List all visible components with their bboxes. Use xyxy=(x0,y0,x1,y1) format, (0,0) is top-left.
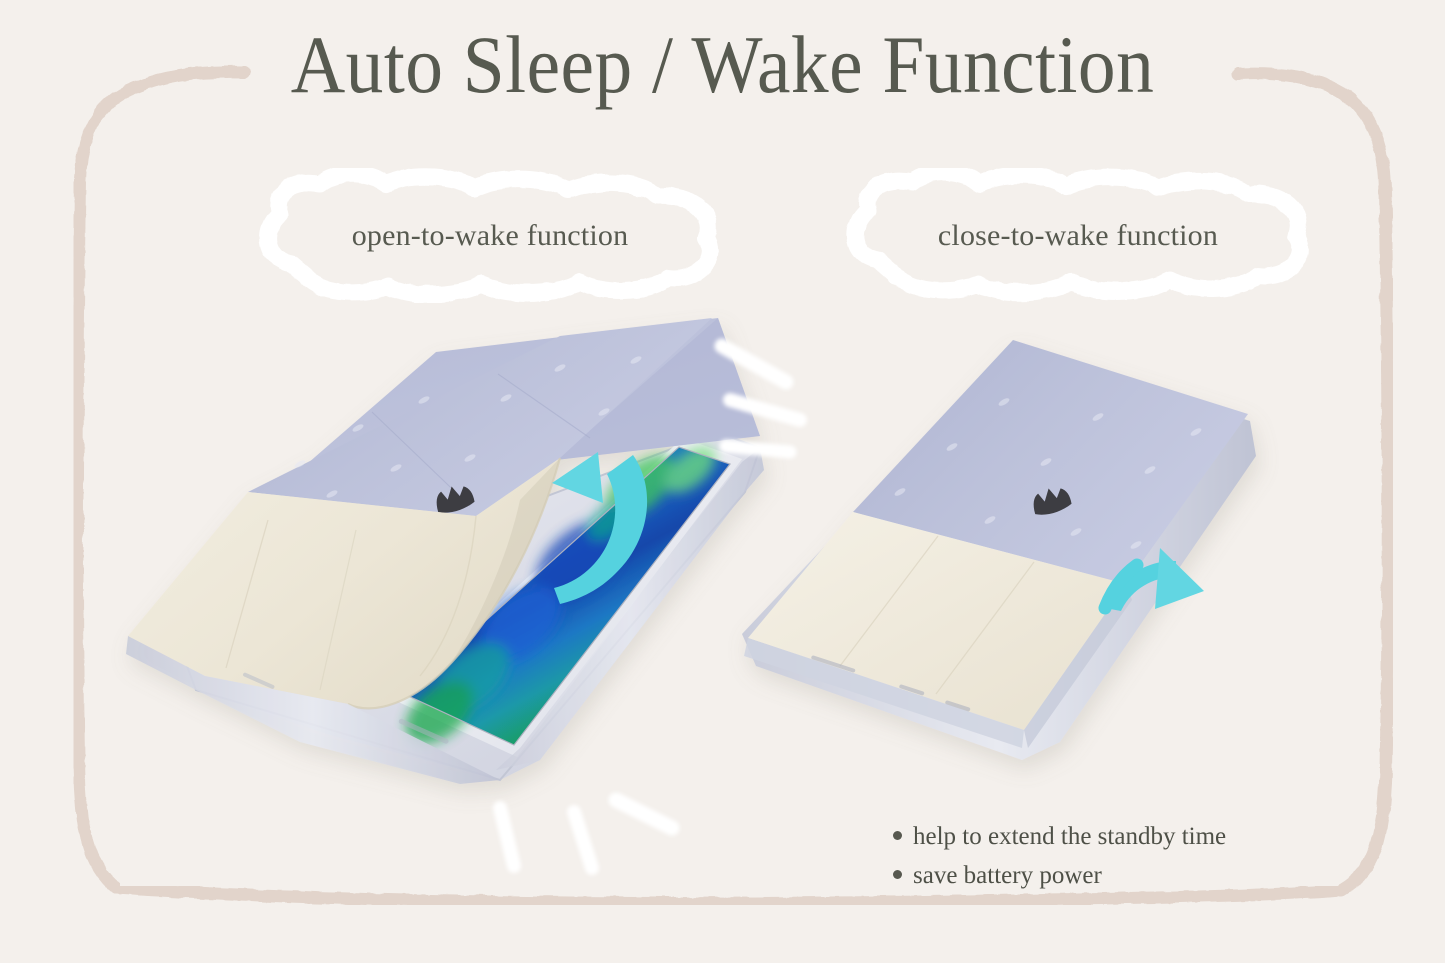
device-shell-left xyxy=(176,432,764,780)
screen-bezel-left xyxy=(392,438,742,757)
flash-stroke xyxy=(574,812,592,868)
bullet-dot-icon xyxy=(893,870,902,879)
flash-stroke xyxy=(500,808,514,866)
benefit-label: help to extend the standby time xyxy=(913,823,1226,851)
tablet-case-closed xyxy=(742,340,1256,760)
benefit-label: save battery power xyxy=(913,862,1102,890)
callout-open-label: open-to-wake function xyxy=(352,219,629,253)
case-cover-lavender-left xyxy=(248,318,712,516)
product-scene xyxy=(0,0,1445,963)
flash-strokes xyxy=(500,346,800,868)
flash-stroke xyxy=(730,400,800,420)
benefits-list: help to extend the standby time save bat… xyxy=(893,823,1313,901)
flash-stroke xyxy=(616,800,672,828)
list-item: save battery power xyxy=(893,862,1313,890)
cat-silhouette-icon-left xyxy=(432,481,475,515)
device-port-details-right xyxy=(811,655,971,712)
flash-stroke xyxy=(722,346,786,382)
bullet-dot-icon xyxy=(893,831,902,840)
case-cover-cream-left xyxy=(128,458,560,708)
device-shell-right xyxy=(742,347,1256,760)
product-feature-poster: Auto Sleep / Wake Function open-to-wake … xyxy=(0,0,1445,963)
device-port-details-left xyxy=(242,672,449,745)
cat-silhouette-icon-right xyxy=(1029,483,1072,517)
close-direction-arrow-icon xyxy=(1105,548,1204,611)
case-side-edge-right xyxy=(1024,584,1132,748)
list-item: help to extend the standby time xyxy=(893,823,1313,851)
tablet-screen-left xyxy=(394,438,730,756)
case-cover-open-leaf xyxy=(300,318,760,470)
callout-close-to-wake: close-to-wake function xyxy=(838,168,1318,303)
case-cover-cream-right xyxy=(748,512,1126,730)
open-direction-arrow-icon xyxy=(552,452,647,604)
flash-stroke xyxy=(726,446,790,452)
case-cover-lavender-right xyxy=(853,340,1248,584)
page-title: Auto Sleep / Wake Function xyxy=(58,22,1387,108)
product-illustration-stage xyxy=(0,0,1445,963)
callout-open-to-wake: open-to-wake function xyxy=(250,168,730,303)
case-edge-right xyxy=(744,638,1024,748)
tablet-case-open xyxy=(126,318,764,784)
callout-close-label: close-to-wake function xyxy=(938,219,1218,253)
case-shell-edge-left xyxy=(126,448,764,784)
decorative-border-frame xyxy=(0,0,1445,963)
